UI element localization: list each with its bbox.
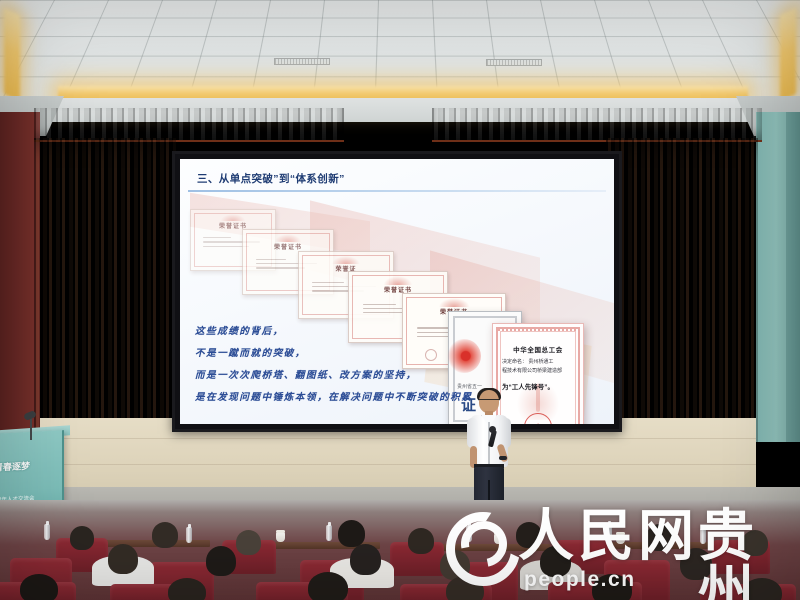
people-cn-logo-icon [446,512,520,586]
wristwatch-icon [499,456,507,460]
slide-body-line: 这些成绩的背后， [195,323,284,337]
audience-head [338,520,365,547]
slide-body-line: 而是一次次爬桥塔、翻图纸、改方案的坚持， [195,367,417,381]
curtain-pelmet-left [34,108,344,142]
certificate-decide-label: 决定命名： [502,359,527,365]
certificate-organization: 中华全国总工会 [493,344,583,354]
watermark-url: people.cn [524,568,636,592]
projection-screen: 三、从单点突破”到“体系创新” 荣誉证书 荣誉证书 荣誉证 [172,151,622,432]
audience-head [408,528,434,554]
water-bottle [326,525,332,541]
podium-headline: 青春逐梦 [0,458,60,474]
curtain-pelmet-right [432,108,762,142]
audience-head [70,526,94,550]
audience-head [206,546,236,576]
audience-head [108,544,138,574]
slide-body-line: 不是一蹴而就的突破， [195,345,306,359]
slide-title: 三、从单点突破”到“体系创新” [197,171,602,186]
cove-light-left [4,8,20,101]
slide-title-row: 三、从单点突破”到“体系创新” [197,171,602,186]
speaker-sleeve-left [467,418,478,448]
slide-body-line: 是在发现问题中锤炼本领，在解决问题中不断突破的积累 [195,389,473,403]
glasses-icon [479,399,499,403]
audience-desk [90,540,210,547]
speaker-figure [466,390,512,515]
wall-right-edge [786,112,800,442]
watermark: 人民网 贵州 people.cn [446,506,796,596]
water-bottle [186,527,192,543]
tea-cup [276,532,285,542]
audience-head [20,574,58,600]
presentation-slide: 三、从单点突破”到“体系创新” 荣誉证书 荣誉证书 荣誉证 [180,159,614,424]
watermark-region: 贵州 [698,508,796,600]
ceiling-vent-icon [486,59,542,66]
cove-light-right [780,8,796,101]
certificate-heading: 荣誉证书 [243,242,333,251]
photo-scene: 三、从单点突破”到“体系创新” 荣誉证书 荣誉证书 荣誉证 [0,0,800,600]
audience-head [236,530,261,555]
audience-head [308,572,348,600]
slide-title-underline [188,190,606,192]
audience-head [168,578,206,600]
stage-curtain-left [34,138,176,448]
certificate-recipient-line1: 贵州桥通工 [528,359,553,365]
water-bottle [44,524,50,540]
ceiling-vent-icon [274,58,330,65]
audience-head [152,522,178,548]
audience-head [350,544,381,575]
stage-curtain-right [606,138,758,448]
certificate-honor-title: 为“工人先锋号”。 [502,381,576,391]
microphone-stand [30,418,32,440]
ceiling [0,0,800,108]
watermark-brand: 人民网 [518,508,698,564]
certificate-recipient-line2: 程技术有限公司桥梁建造部 [502,368,562,374]
